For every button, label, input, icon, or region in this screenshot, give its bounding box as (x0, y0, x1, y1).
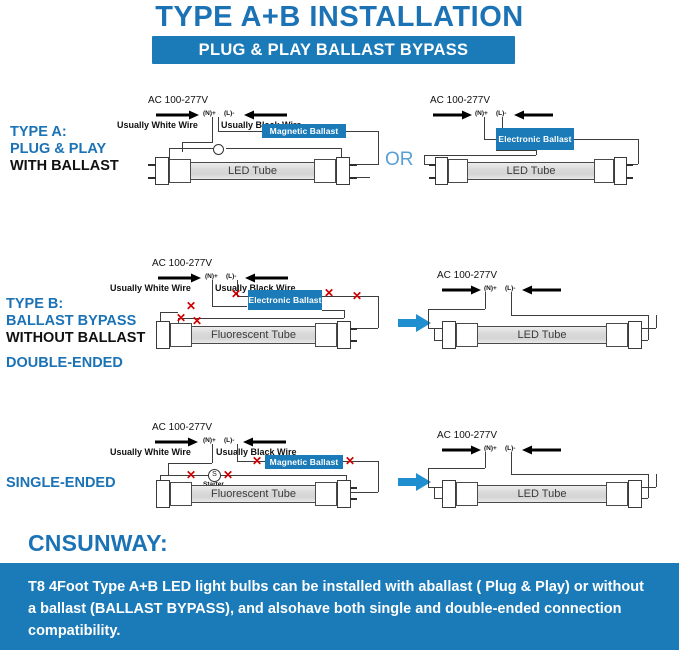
wire (485, 292, 486, 309)
tube-endcap-right (315, 323, 337, 347)
neutral-label: (N)+ (203, 437, 216, 444)
supply-label: AC 100-277V (437, 430, 497, 441)
tube-pin-block-left (155, 157, 169, 185)
tube-pin-block-right (628, 480, 642, 508)
wire (356, 164, 379, 165)
neutral-arrow-icon (442, 285, 482, 295)
ballast-label: Electronic Ballast (248, 295, 321, 305)
neutral-arrow-icon (433, 110, 473, 120)
subtitle-banner: PLUG & PLAY BALLAST BYPASS (152, 36, 515, 64)
row-label-line-3: WITH BALLAST (10, 158, 119, 175)
subtitle-text: PLUG & PLAY BALLAST BYPASS (199, 41, 469, 60)
wire (226, 148, 341, 149)
row-label-type-b: TYPE B: BALLAST BYPASS WITHOUT BALLAST (6, 296, 145, 347)
tube-endcap-right (606, 323, 628, 347)
line-label: (L)- (224, 437, 234, 444)
wire (428, 487, 442, 488)
magnetic-ballast-box: Magnetic Ballast (265, 455, 343, 469)
wire (428, 468, 429, 487)
line-arrow-icon (243, 110, 287, 120)
footer-description: T8 4Foot Type A+B LED light bulbs can be… (28, 576, 653, 642)
wire (511, 315, 648, 316)
tube-endcap-right (314, 159, 336, 183)
wire (178, 318, 344, 319)
wire (485, 452, 486, 468)
blue-arrow-icon (398, 313, 432, 333)
wire (346, 131, 378, 132)
wire (348, 492, 378, 493)
wire (656, 315, 657, 328)
x-mark-icon: ✕ (252, 455, 262, 467)
tube-pin-block-right (628, 321, 642, 349)
wire (648, 474, 649, 498)
line-label: (L)- (226, 273, 236, 280)
wire (434, 328, 435, 340)
tube-pin (148, 177, 156, 179)
x-mark-icon: ✕ (186, 300, 196, 312)
tube-pin-block-left (156, 321, 170, 349)
wire (356, 177, 370, 178)
wire (237, 444, 238, 461)
wire (182, 142, 213, 143)
neutral-label: (N)+ (203, 110, 216, 117)
tube-pin (350, 328, 357, 330)
electronic-ballast-box: Electronic Ballast (248, 290, 322, 310)
wire (638, 139, 639, 164)
neutral-label: (N)+ (484, 445, 497, 452)
tube-pin (626, 177, 633, 179)
wire (496, 150, 536, 151)
junction-node-icon (213, 144, 224, 155)
wire (656, 474, 657, 487)
row-label-type-a: TYPE A: PLUG & PLAY WITH BALLAST (10, 124, 119, 175)
electronic-ballast-box: Electronic Ballast (496, 128, 574, 150)
wire (212, 280, 213, 283)
wire (484, 139, 496, 140)
row-sublabel-double-ended: DOUBLE-ENDED (6, 355, 123, 371)
white-wire-label: Usually White Wire (110, 447, 191, 457)
wire (511, 292, 512, 315)
tube-pin-block-left (156, 480, 170, 508)
supply-label: AC 100-277V (437, 270, 497, 281)
wire (434, 340, 442, 341)
wire (378, 296, 379, 328)
wire (218, 131, 262, 132)
neutral-arrow-icon (442, 445, 482, 455)
brand-name: CNSUNWAY: (28, 530, 168, 557)
wire (378, 131, 379, 164)
wire (168, 463, 212, 464)
wire (428, 309, 429, 328)
supply-label: AC 100-277V (152, 422, 212, 433)
x-mark-icon: ✕ (231, 288, 241, 300)
tube-pin (148, 164, 156, 166)
lamp-tube-body: LED Tube (190, 162, 315, 180)
x-mark-icon: ✕ (223, 469, 233, 481)
line-label: (L)- (496, 110, 506, 117)
tube-pin-block-right (337, 480, 351, 508)
tube-endcap-left (448, 159, 468, 183)
tube-pin (350, 498, 357, 500)
lamp-tube-body: LED Tube (477, 326, 607, 344)
tube-pin-block-right (614, 157, 627, 185)
wire (378, 461, 379, 492)
line-arrow-icon (521, 445, 561, 455)
wire (218, 117, 219, 131)
row-sublabel-single-ended: SINGLE-ENDED (6, 475, 116, 491)
tube-pin-block-right (336, 157, 350, 185)
supply-label: AC 100-277V (148, 95, 208, 106)
row-label-line-1: TYPE B: (6, 296, 145, 313)
tube-label: LED Tube (518, 329, 567, 341)
wire (574, 139, 638, 140)
tube-endcap-left (170, 482, 192, 506)
tube-label: LED Tube (228, 165, 277, 177)
neutral-arrow-icon (158, 273, 202, 283)
x-mark-icon: ✕ (352, 290, 362, 302)
wire (212, 280, 213, 306)
tube-endcap-left (456, 482, 478, 506)
wire (212, 306, 247, 307)
blue-arrow-icon (398, 472, 432, 492)
supply-label: AC 100-277V (430, 95, 490, 106)
tube-endcap-right (606, 482, 628, 506)
tube-pin-block-left (435, 157, 448, 185)
ballast-label: Magnetic Ballast (270, 126, 339, 136)
wire (428, 468, 485, 469)
wire (212, 117, 213, 142)
lamp-tube-body: LED Tube (467, 162, 595, 180)
x-mark-icon: ✕ (186, 469, 196, 481)
starter-symbol-letter: S (212, 471, 217, 478)
white-wire-label: Usually White Wire (110, 283, 191, 293)
line-arrow-icon (244, 273, 288, 283)
neutral-label: (N)+ (205, 273, 218, 280)
tube-pin-block-left (442, 480, 456, 508)
wire (536, 150, 537, 155)
neutral-label: (N)+ (475, 110, 488, 117)
tube-pin-block-left (442, 321, 456, 349)
tube-pin (429, 164, 436, 166)
wire (428, 328, 442, 329)
wire (160, 475, 170, 476)
tube-endcap-left (170, 323, 192, 347)
wire (424, 155, 425, 164)
wire (511, 474, 648, 475)
line-label: (L)- (505, 285, 515, 292)
neutral-label: (N)+ (484, 285, 497, 292)
wire (428, 309, 485, 310)
lamp-tube-body: Fluorescent Tube (191, 326, 316, 344)
tube-pin-block-right (337, 321, 351, 349)
wire (511, 452, 512, 474)
x-mark-icon: ✕ (345, 455, 355, 467)
line-label: (L)- (224, 110, 234, 117)
ballast-label: Magnetic Ballast (270, 457, 339, 467)
tube-label: LED Tube (518, 488, 567, 500)
tube-pin (350, 487, 357, 489)
line-arrow-icon (242, 437, 286, 447)
tube-endcap-left (169, 159, 191, 183)
page-title: TYPE A+B INSTALLATION (0, 0, 679, 34)
tube-label: Fluorescent Tube (211, 329, 296, 341)
white-wire-label: Usually White Wire (117, 120, 198, 130)
line-arrow-icon (513, 110, 553, 120)
wire (169, 148, 213, 149)
wire (168, 463, 169, 475)
ballast-label: Electronic Ballast (498, 134, 571, 144)
neutral-arrow-icon (156, 110, 200, 120)
wire (424, 155, 536, 156)
neutral-arrow-icon (155, 437, 199, 447)
wire (212, 444, 213, 463)
magnetic-ballast-box: Magnetic Ballast (262, 124, 346, 138)
wire (322, 310, 344, 311)
line-arrow-icon (521, 285, 561, 295)
tube-label: Fluorescent Tube (211, 488, 296, 500)
row-label-line-2: PLUG & PLAY (10, 141, 119, 158)
wire (344, 310, 345, 318)
tube-endcap-right (594, 159, 614, 183)
installation-diagram-page: TYPE A+B INSTALLATION PLUG & PLAY BALLAS… (0, 0, 679, 650)
line-label: (L)- (505, 445, 515, 452)
tube-endcap-left (456, 323, 478, 347)
tube-pin (429, 177, 436, 179)
row-label-line-2: BALLAST BYPASS (6, 313, 145, 330)
tube-pin (626, 164, 633, 166)
lamp-tube-body: Fluorescent Tube (191, 485, 316, 503)
tube-endcap-right (315, 482, 337, 506)
wire (434, 487, 435, 498)
wire (484, 117, 485, 139)
row-label-line-3: WITHOUT BALLAST (6, 330, 145, 347)
lamp-tube-body: LED Tube (477, 485, 607, 503)
row-label-line-1: TYPE A: (10, 124, 119, 141)
tube-label: LED Tube (507, 165, 556, 177)
wire (434, 498, 442, 499)
or-connector-label: OR (385, 149, 414, 171)
x-mark-icon: ✕ (324, 287, 334, 299)
wire (182, 142, 183, 152)
tube-pin (350, 340, 357, 342)
supply-label: AC 100-277V (152, 258, 212, 269)
